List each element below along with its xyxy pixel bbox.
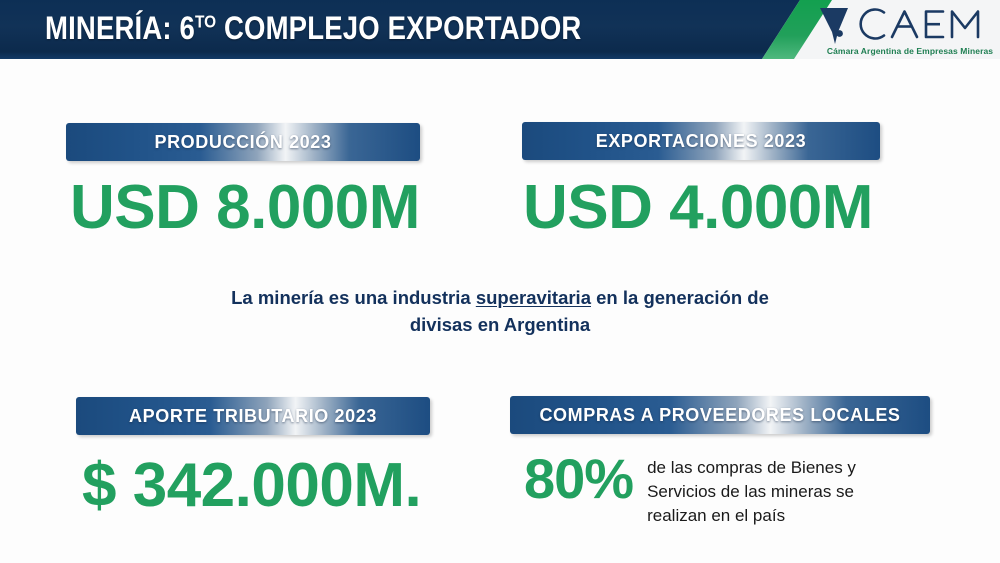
banner-compras-proveedores-locales: COMPRAS A PROVEEDORES LOCALES xyxy=(510,396,930,434)
statement-text: La minería es una industria superavitari… xyxy=(230,285,770,339)
percent-description: de las compras de Bienes y Servicios de … xyxy=(647,452,897,528)
banner-produccion-2023: PRODUCCIÓN 2023 xyxy=(66,123,420,161)
figure-exportaciones-value: USD 4.000M xyxy=(523,172,873,243)
slide-root: MINERÍA: 6TO COMPLEJO EXPORTADOR Cámara … xyxy=(0,0,1000,563)
statement-highlight: superavitaria xyxy=(476,287,591,308)
statement-part-1: La minería es una industria xyxy=(231,287,476,308)
figure-aporte-tributario-value: $ 342.000M. xyxy=(82,450,421,521)
banner-exportaciones-2023: EXPORTACIONES 2023 xyxy=(522,122,880,160)
banner-compras-label: COMPRAS A PROVEEDORES LOCALES xyxy=(539,405,900,426)
percent-block: 80% de las compras de Bienes y Servicios… xyxy=(524,452,897,528)
percent-value: 80% xyxy=(524,452,633,507)
page-title: MINERÍA: 6TO COMPLEJO EXPORTADOR xyxy=(45,10,581,47)
banner-aporte-label: APORTE TRIBUTARIO 2023 xyxy=(129,406,377,427)
page-title-main: MINERÍA: 6 xyxy=(45,10,195,46)
page-title-ordinal-suffix: TO xyxy=(195,11,216,31)
page-title-rest: COMPLEJO EXPORTADOR xyxy=(216,10,581,46)
banner-exportaciones-label: EXPORTACIONES 2023 xyxy=(596,131,807,152)
figure-produccion-value: USD 8.000M xyxy=(70,172,420,243)
logo-tagline: Cámara Argentina de Empresas Mineras xyxy=(822,46,998,56)
banner-aporte-tributario-2023: APORTE TRIBUTARIO 2023 xyxy=(76,397,430,435)
caem-logo: Cámara Argentina de Empresas Mineras xyxy=(818,6,998,62)
banner-produccion-label: PRODUCCIÓN 2023 xyxy=(154,132,331,153)
caem-wordmark-icon xyxy=(818,6,993,44)
